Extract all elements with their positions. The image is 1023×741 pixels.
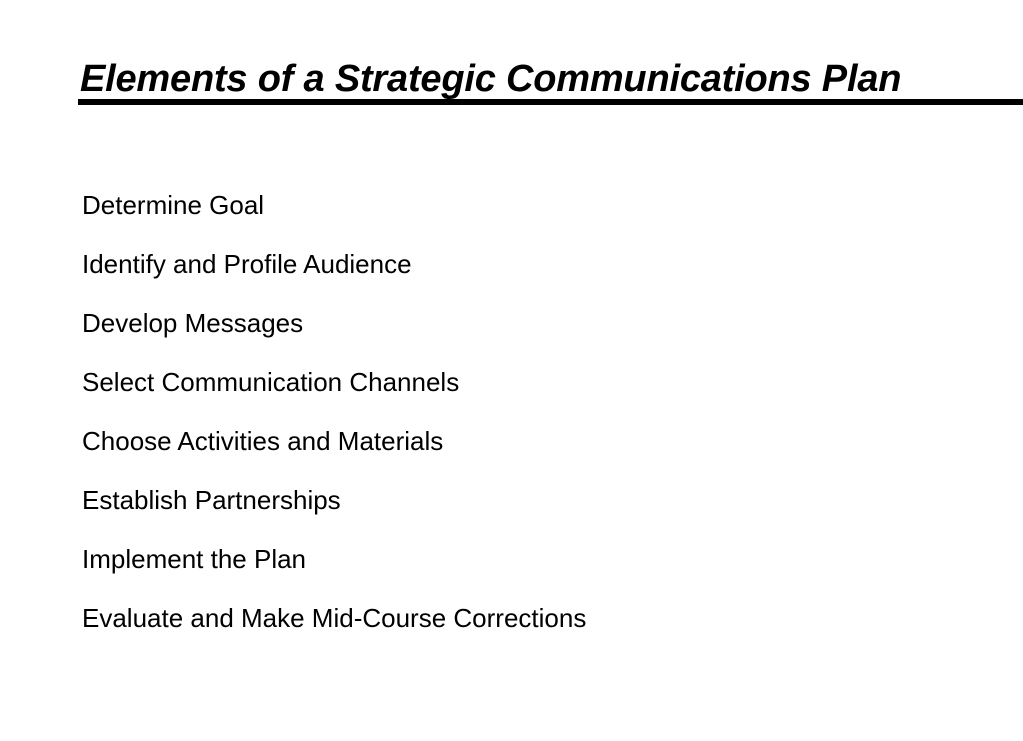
presentation-slide: Elements of a Strategic Communications P… [0, 0, 1023, 741]
list-item: Evaluate and Make Mid-Course Corrections [82, 589, 982, 648]
list-item: Determine Goal [82, 176, 982, 235]
title-underline-rule [78, 99, 1023, 105]
list-item: Identify and Profile Audience [82, 235, 982, 294]
page-title: Elements of a Strategic Communications P… [80, 57, 901, 101]
slide-body-list: Determine Goal Identify and Profile Audi… [82, 176, 982, 648]
list-item: Choose Activities and Materials [82, 412, 982, 471]
list-item: Implement the Plan [82, 530, 982, 589]
list-item: Develop Messages [82, 294, 982, 353]
list-item: Establish Partnerships [82, 471, 982, 530]
list-item: Select Communication Channels [82, 353, 982, 412]
